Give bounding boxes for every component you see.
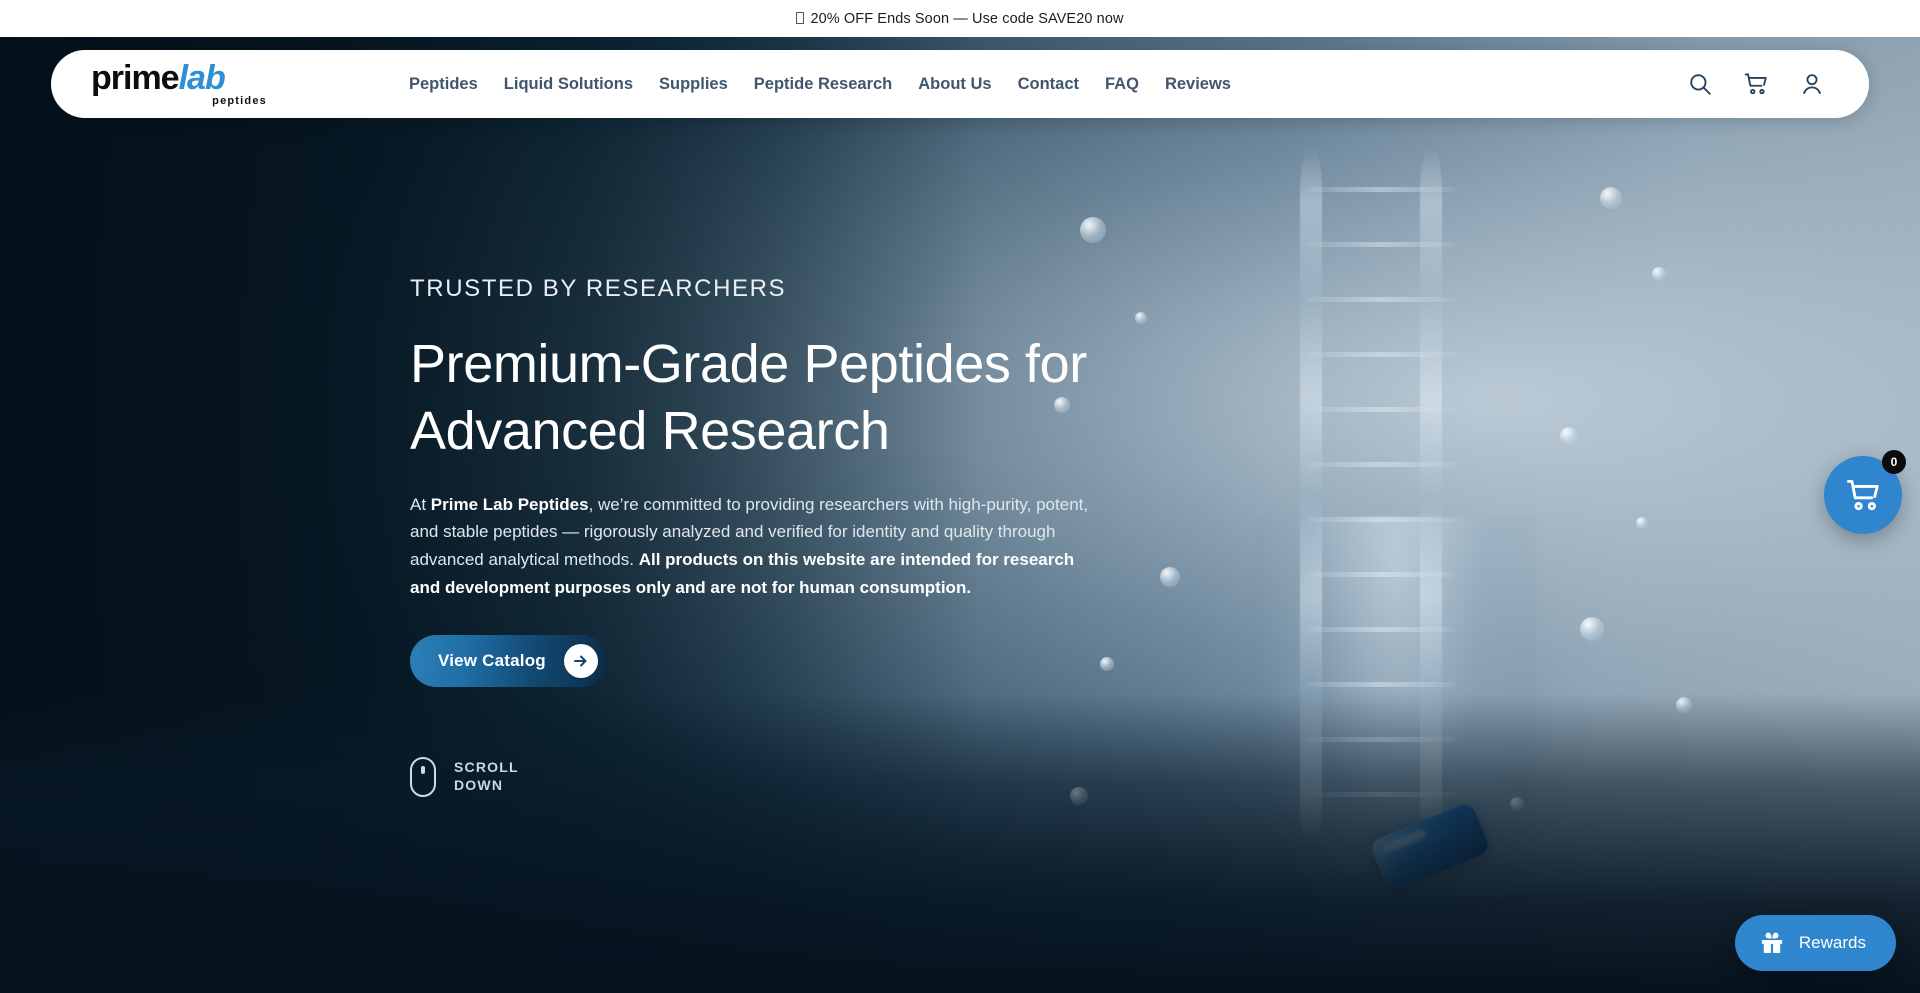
account-icon[interactable] (1799, 71, 1825, 97)
hero-headline: Premium-Grade Peptides for Advanced Rese… (410, 331, 1110, 465)
nav-item-supplies[interactable]: Supplies (659, 75, 728, 94)
logo-wordmark: primelab (91, 61, 225, 95)
announcement-text: 20% OFF Ends Soon — Use code SAVE20 now (796, 11, 1123, 27)
main-navigation: Peptides Liquid Solutions Supplies Pepti… (409, 75, 1231, 94)
cart-icon (1844, 476, 1882, 514)
scroll-line-2: DOWN (454, 777, 519, 795)
scroll-line-1: SCROLL (454, 759, 519, 777)
hourglass-missing-glyph-icon (796, 12, 804, 24)
nav-item-peptides[interactable]: Peptides (409, 75, 478, 94)
logo-prime-text: prime (91, 59, 179, 97)
nav-item-liquid-solutions[interactable]: Liquid Solutions (504, 75, 633, 94)
site-header: primelab peptides Peptides Liquid Soluti… (51, 50, 1869, 118)
nav-item-reviews[interactable]: Reviews (1165, 75, 1231, 94)
hero-blurb: At Prime Lab Peptides, we’re committed t… (410, 491, 1100, 601)
cart-count-badge: 0 (1882, 450, 1906, 474)
nav-item-faq[interactable]: FAQ (1105, 75, 1139, 94)
hero-eyebrow: TRUSTED BY RESEARCHERS (410, 275, 1130, 303)
blurb-bold-brand: Prime Lab Peptides (431, 495, 589, 514)
announcement-bar: 20% OFF Ends Soon — Use code SAVE20 now (0, 0, 1920, 37)
scroll-down-label: SCROLL DOWN (454, 759, 519, 795)
announcement-message: 20% OFF Ends Soon — Use code SAVE20 now (810, 11, 1123, 27)
page-root: 20% OFF Ends Soon — Use code SAVE20 now (0, 0, 1920, 993)
hero-content: TRUSTED BY RESEARCHERS Premium-Grade Pep… (410, 275, 1130, 687)
gift-icon (1759, 930, 1785, 956)
scroll-down-indicator[interactable]: SCROLL DOWN (410, 757, 519, 797)
mouse-icon (410, 757, 436, 797)
arrow-right-icon (564, 644, 598, 678)
floating-cart-button[interactable]: 0 (1824, 456, 1902, 534)
rewards-button[interactable]: Rewards (1735, 915, 1896, 971)
cart-icon[interactable] (1743, 71, 1769, 97)
view-catalog-button[interactable]: View Catalog (410, 635, 608, 687)
nav-item-peptide-research[interactable]: Peptide Research (754, 75, 892, 94)
nav-item-about-us[interactable]: About Us (918, 75, 991, 94)
header-icon-group (1687, 50, 1825, 118)
view-catalog-label: View Catalog (438, 651, 546, 671)
rewards-label: Rewards (1799, 933, 1866, 953)
search-icon[interactable] (1687, 71, 1713, 97)
nav-item-contact[interactable]: Contact (1018, 75, 1079, 94)
logo-lab-text: lab (179, 59, 225, 97)
site-logo[interactable]: primelab peptides (91, 61, 291, 107)
logo-subtitle: peptides (212, 95, 267, 107)
hero-bottom-gradient (0, 693, 1920, 993)
blurb-part-1: At (410, 495, 431, 514)
